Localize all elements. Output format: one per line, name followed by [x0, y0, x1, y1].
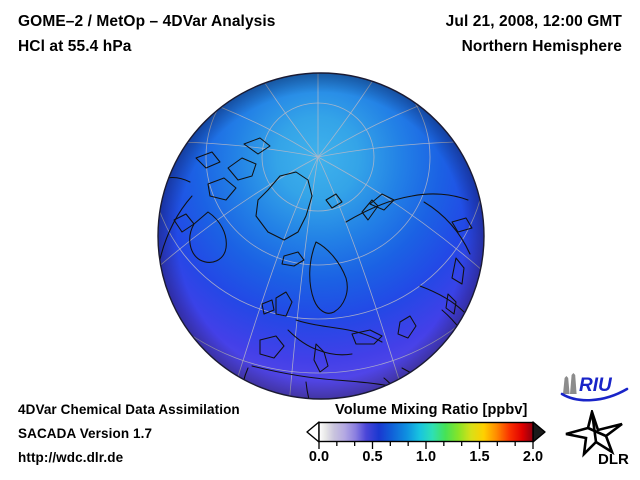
colorbar-high-arrow	[533, 422, 545, 442]
colorbar-low-arrow	[307, 422, 319, 442]
colorbar-tick-label: 0.5	[362, 449, 382, 465]
colorbar-tick-label: 2.0	[523, 449, 543, 465]
dlr-logo: DLR	[562, 410, 636, 468]
riu-wordmark: RIU	[579, 375, 613, 396]
colorbar-axis: 0.00.51.01.52.0	[306, 444, 546, 468]
dlr-mark-icon	[566, 412, 622, 454]
footer-line-assimilation: 4DVar Chemical Data Assimilation	[18, 402, 240, 417]
orthographic-globe-svg	[156, 72, 486, 402]
dlr-wordmark: DLR	[598, 451, 629, 468]
riu-logo: RIU	[559, 372, 631, 404]
footer-line-version: SACADA Version 1.7	[18, 426, 152, 441]
timestamp-label: Jul 21, 2008, 12:00 GMT	[446, 13, 622, 31]
colorbar-tick-label: 0.0	[309, 449, 329, 465]
globe-map	[156, 72, 486, 402]
footer-line-url[interactable]: http://wdc.dlr.de	[18, 450, 123, 465]
figure-canvas: GOME–2 / MetOp – 4DVar Analysis HCl at 5…	[0, 0, 640, 480]
region-label: Northern Hemisphere	[462, 38, 622, 56]
dlr-logo-svg: DLR	[562, 410, 636, 468]
limb-shading	[158, 73, 484, 399]
riu-towers-icon	[563, 373, 577, 394]
riu-logo-svg: RIU	[559, 372, 631, 404]
colorbar-ramp	[319, 423, 533, 442]
page-title: GOME–2 / MetOp – 4DVar Analysis	[18, 13, 276, 31]
colorbar-tick-label: 1.5	[469, 449, 489, 465]
colorbar-tick-label: 1.0	[416, 449, 436, 465]
colorbar-title: Volume Mixing Ratio [ppbv]	[335, 402, 527, 418]
page-subtitle: HCl at 55.4 hPa	[18, 38, 132, 56]
